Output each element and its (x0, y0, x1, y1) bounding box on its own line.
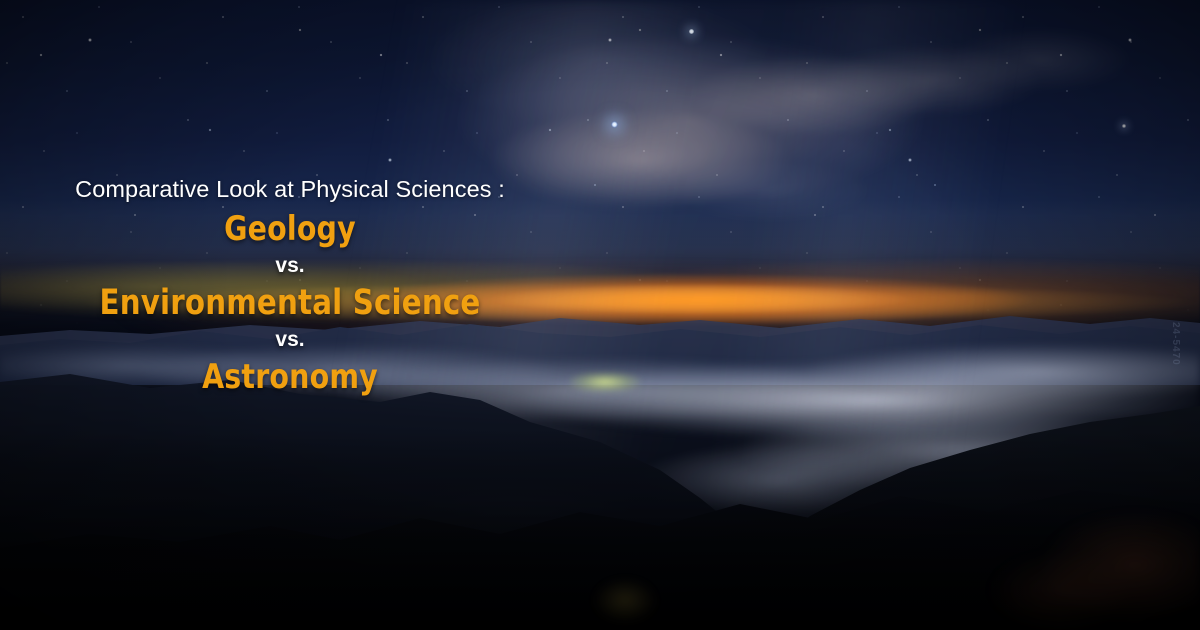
headline-intro: Comparative Look at Physical Sciences : (49, 174, 531, 204)
bright-star-right-icon (1122, 124, 1126, 128)
poster-canvas: Comparative Look at Physical Sciences : … (0, 0, 1200, 630)
valley-light-glow (570, 372, 640, 392)
headline-block: Comparative Look at Physical Sciences : … (49, 174, 531, 398)
subject-environmental-science: Environmental Science (66, 282, 514, 324)
bright-star-secondary-icon (689, 29, 694, 34)
versus-separator-two: vs. (49, 324, 531, 356)
subject-astronomy: Astronomy (66, 356, 514, 398)
image-watermark: 24-5470 (1170, 322, 1181, 366)
bright-star-icon (611, 121, 618, 128)
subject-geology: Geology (66, 208, 514, 250)
versus-separator-one: vs. (49, 250, 531, 282)
